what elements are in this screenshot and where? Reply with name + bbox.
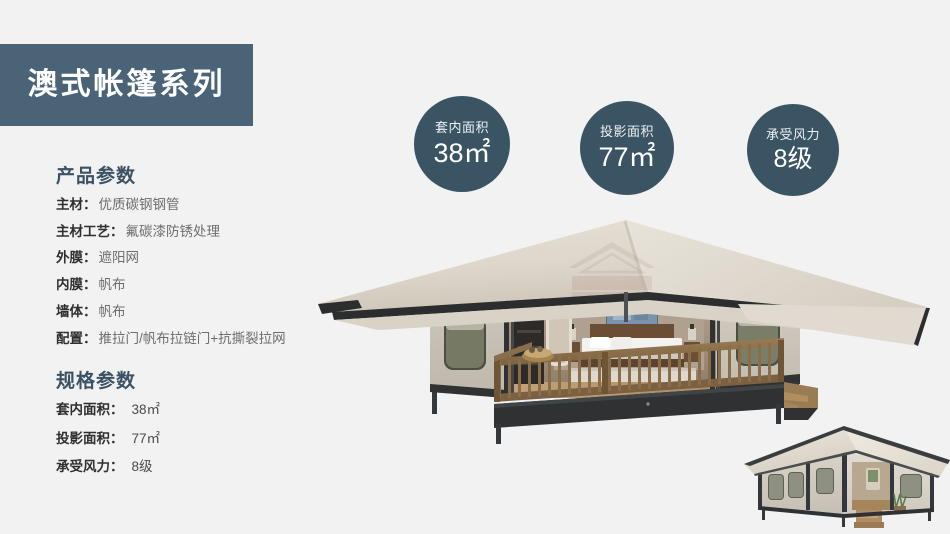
page-title: 澳式帐篷系列 [28,70,226,100]
stat-badge-interior-area: 套内面积 38㎡ [414,96,510,192]
param-label: 主材： [56,197,97,212]
product-parameter-list: 主材：优质碳钢钢管 主材工艺：氟碳漆防锈处理 外膜：遮阳网 内膜：帆布 墙体：帆… [56,198,356,347]
spec-value: 38㎡ [132,402,161,417]
param-value: 帆布 [99,277,126,292]
deck-stairs [784,382,818,420]
list-item: 内膜：帆布 [56,278,356,293]
slide-canvas: 澳式帐篷系列 产品参数 主材：优质碳钢钢管 主材工艺：氟碳漆防锈处理 外膜：遮阳… [0,0,950,534]
title-banner: 澳式帐篷系列 [0,44,253,126]
stat-value: 77㎡ [598,144,655,171]
param-value: 优质碳钢钢管 [99,197,180,212]
spec-value: 8级 [132,459,153,474]
param-label: 配置： [56,331,97,346]
stat-value: 8级 [774,147,813,172]
list-item: 外膜：遮阳网 [56,251,356,266]
spec-section-heading: 规格参数 [56,371,356,394]
list-item: 主材：优质碳钢钢管 [56,198,356,213]
stat-label: 套内面积 [435,121,489,134]
param-value: 氟碳漆防锈处理 [126,224,221,239]
param-label: 内膜： [56,277,97,292]
param-label: 墙体： [56,304,97,319]
stat-label: 投影面积 [600,125,654,138]
specification-parameter-list: 套内面积：38㎡ 投影面积：77㎡ 承受风力：8级 [56,403,356,476]
list-item: 配置：推拉门/帆布拉链门+抗撕裂拉网 [56,332,356,347]
param-value: 遮阳网 [99,250,140,265]
list-item: 套内面积：38㎡ [56,403,356,418]
spec-value: 77㎡ [132,431,161,446]
roof-center-pole [624,292,628,322]
specification-panel: 产品参数 主材：优质碳钢钢管 主材工艺：氟碳漆防锈处理 外膜：遮阳网 内膜：帆布… [56,166,356,489]
spec-label: 承受风力： [56,459,124,474]
list-item: 投影面积：77㎡ [56,432,356,447]
stat-label: 承受风力 [766,128,820,141]
param-value: 推拉门/帆布拉链门+抗撕裂拉网 [99,331,286,346]
stat-badge-projected-area: 投影面积 77㎡ [580,101,674,195]
list-item: 主材工艺：氟碳漆防锈处理 [56,225,356,240]
param-value: 帆布 [99,304,126,319]
spec-label: 投影面积： [56,431,124,446]
spec-label: 套内面积： [56,402,124,417]
param-label: 主材工艺： [56,224,124,239]
stat-badge-wind-resistance: 承受风力 8级 [747,104,839,196]
list-item: 承受风力：8级 [56,460,356,475]
main-tent-image [318,196,930,452]
stat-value: 38㎡ [433,140,490,167]
list-item: 墙体：帆布 [56,305,356,320]
product-section-heading: 产品参数 [56,166,356,189]
param-label: 外膜： [56,250,97,265]
secondary-tent-image [744,418,950,534]
